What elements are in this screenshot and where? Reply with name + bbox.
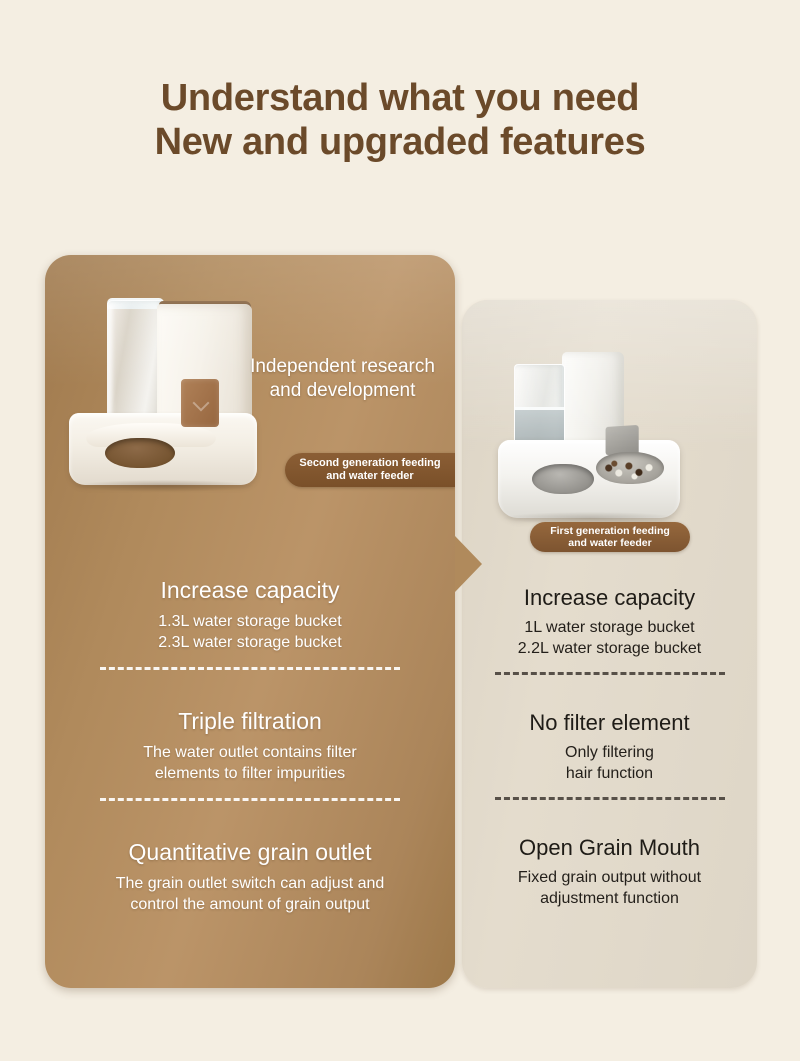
feature-description-line: Fixed grain output without bbox=[462, 867, 757, 888]
water-bottle-shape bbox=[514, 364, 565, 452]
feature-item: Open Grain Mouth Fixed grain output with… bbox=[462, 833, 757, 909]
first-generation-card: First generation feeding and water feede… bbox=[462, 300, 757, 988]
feature-description-line: The water outlet contains filter bbox=[45, 742, 455, 763]
spacer bbox=[45, 686, 455, 706]
callout-line-2: and development bbox=[270, 380, 416, 401]
feature-description-line: 1L water storage bucket bbox=[462, 617, 757, 638]
feature-description-line: Only filtering bbox=[462, 742, 757, 763]
comparison-cards: First generation feeding and water feede… bbox=[0, 0, 800, 1061]
comparison-arrow-icon bbox=[455, 536, 482, 592]
feature-divider bbox=[100, 667, 400, 670]
feature-description-line: hair function bbox=[462, 763, 757, 784]
feature-description-line: The grain outlet switch can adjust and bbox=[45, 873, 455, 894]
feature-description-line: adjustment function bbox=[462, 888, 757, 909]
second-generation-feature-list: Increase capacity 1.3L water storage buc… bbox=[45, 575, 455, 915]
feature-divider bbox=[100, 798, 400, 801]
feature-divider bbox=[495, 672, 725, 675]
feature-title: Open Grain Mouth bbox=[462, 833, 757, 862]
feature-description-line: 2.3L water storage bucket bbox=[45, 632, 455, 653]
product-shadow-shape bbox=[75, 480, 253, 492]
feature-title: Increase capacity bbox=[45, 575, 455, 605]
spacer bbox=[462, 690, 757, 708]
feature-description: Fixed grain output without adjustment fu… bbox=[462, 867, 757, 909]
feature-description: The grain outlet switch can adjust and c… bbox=[45, 873, 455, 915]
feature-description-line: elements to filter impurities bbox=[45, 763, 455, 784]
feature-description-line: 1.3L water storage bucket bbox=[45, 611, 455, 632]
grain-outlet-switch-shape bbox=[181, 379, 219, 427]
badge-line-1: First generation feeding bbox=[550, 525, 670, 537]
food-bowl-shape bbox=[596, 452, 664, 484]
feature-description: The water outlet contains filter element… bbox=[45, 742, 455, 784]
badge-line-2: and water feeder bbox=[568, 537, 651, 549]
feature-item: Triple filtration The water outlet conta… bbox=[45, 706, 455, 784]
feature-description-line: control the amount of grain output bbox=[45, 894, 455, 915]
feature-divider bbox=[495, 797, 725, 800]
feature-title: Increase capacity bbox=[462, 583, 757, 612]
feature-item: Increase capacity 1.3L water storage buc… bbox=[45, 575, 455, 653]
water-bowl-shape bbox=[532, 464, 594, 494]
independent-rd-callout: Independent research and development bbox=[240, 355, 445, 403]
second-generation-product-image bbox=[61, 290, 261, 495]
feature-title: Quantitative grain outlet bbox=[45, 837, 455, 867]
feature-description: Only filtering hair function bbox=[462, 742, 757, 784]
second-generation-card: Independent research and development Sec… bbox=[45, 255, 455, 988]
feature-description: 1.3L water storage bucket 2.3L water sto… bbox=[45, 611, 455, 653]
callout-line-1: Independent research bbox=[250, 356, 435, 377]
feeding-bowl-shape bbox=[105, 438, 175, 468]
feature-description-line: 2.2L water storage bucket bbox=[462, 638, 757, 659]
first-generation-product-image bbox=[492, 352, 692, 537]
feature-item: Increase capacity 1L water storage bucke… bbox=[462, 583, 757, 659]
spacer bbox=[462, 815, 757, 833]
first-generation-feature-list: Increase capacity 1L water storage bucke… bbox=[462, 583, 757, 909]
feature-item: Quantitative grain outlet The grain outl… bbox=[45, 837, 455, 915]
spacer bbox=[45, 817, 455, 837]
feature-description: 1L water storage bucket 2.2L water stora… bbox=[462, 617, 757, 659]
feature-item: No filter element Only filtering hair fu… bbox=[462, 708, 757, 784]
first-generation-badge: First generation feeding and water feede… bbox=[530, 522, 690, 552]
badge-line-2: and water feeder bbox=[326, 470, 413, 483]
feature-title: Triple filtration bbox=[45, 706, 455, 736]
badge-line-1: Second generation feeding bbox=[299, 457, 440, 470]
feature-title: No filter element bbox=[462, 708, 757, 737]
second-generation-badge: Second generation feeding and water feed… bbox=[285, 453, 455, 487]
